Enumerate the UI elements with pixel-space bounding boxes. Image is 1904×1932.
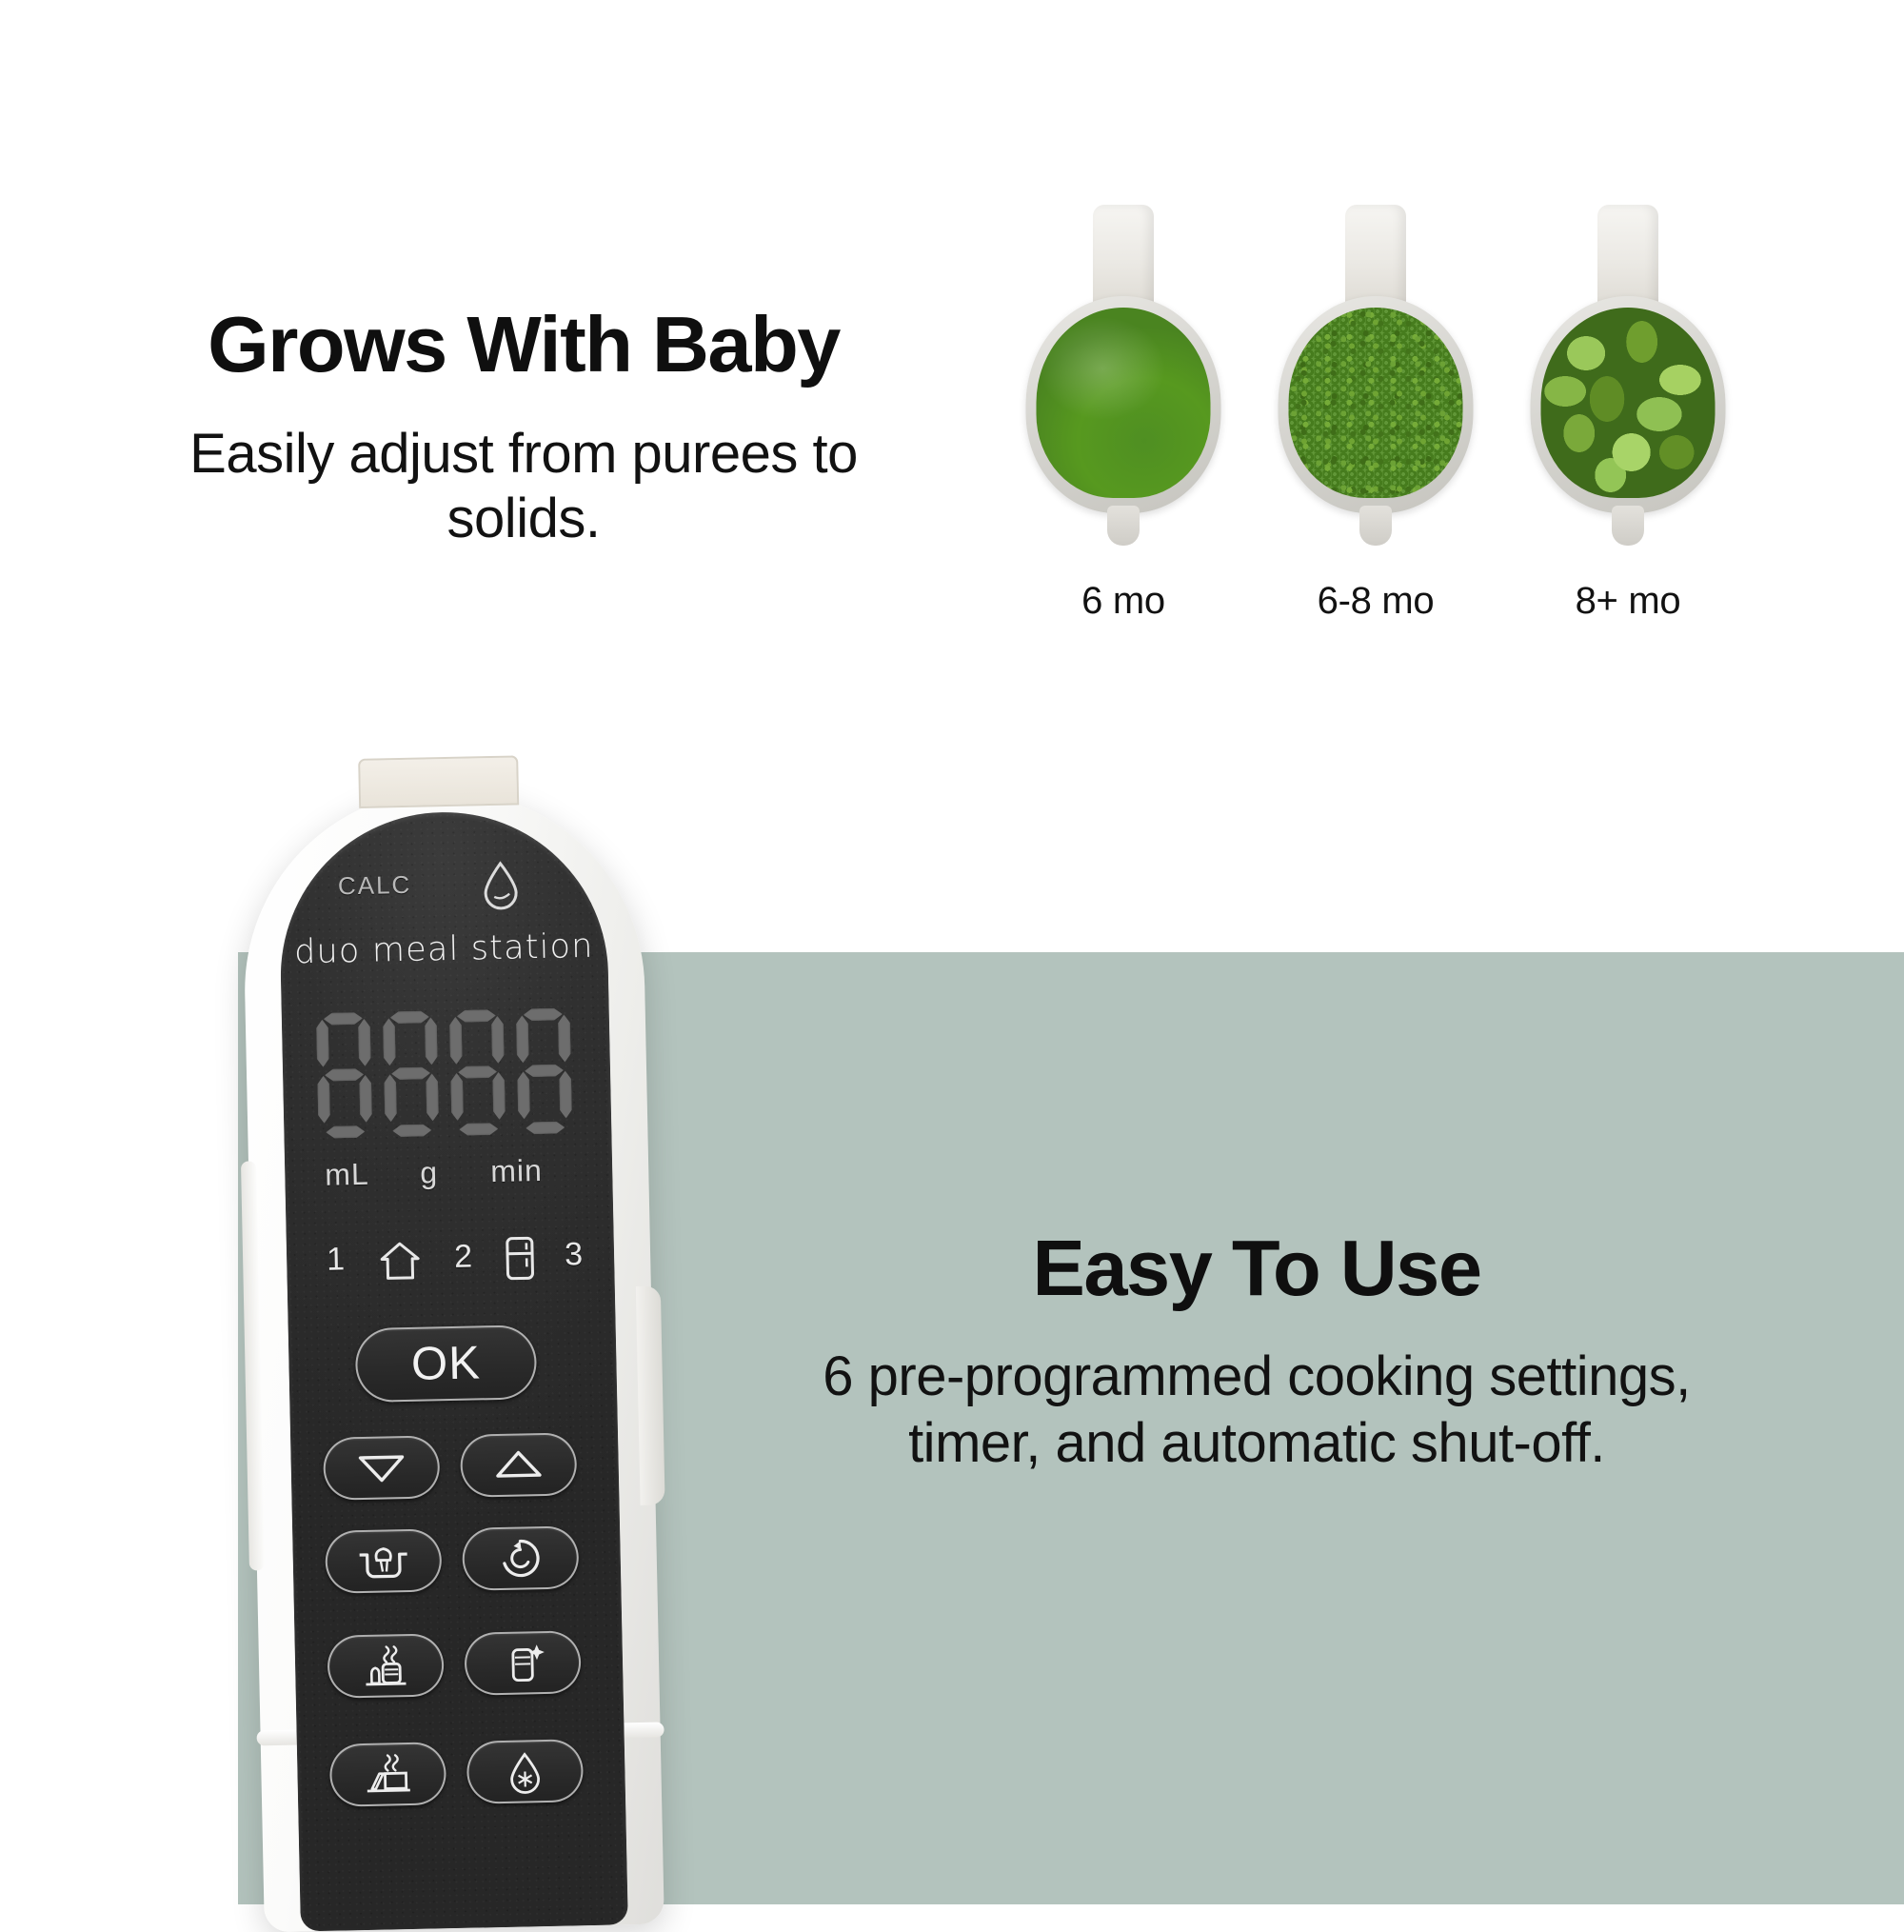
jar-illustration-chunky xyxy=(1523,205,1733,576)
unit-label-row: mL g min xyxy=(285,1151,613,1196)
sterilize-button[interactable] xyxy=(464,1630,581,1696)
lcd-digit-2 xyxy=(383,1010,440,1137)
ok-button[interactable]: OK xyxy=(355,1325,538,1403)
jar-item-8plus-mo: 8+ mo xyxy=(1523,205,1733,623)
easy-title: Easy To Use xyxy=(752,1228,1761,1307)
indicator-row-top: CALC xyxy=(279,863,607,913)
device-hinge-tab xyxy=(358,755,519,808)
bottle-steam-icon xyxy=(356,1643,416,1689)
device-side-rail xyxy=(636,1285,665,1504)
lcd-digit-1 xyxy=(316,1012,373,1139)
jar-bowl xyxy=(1279,296,1474,513)
brand-wordmark: duo meal station xyxy=(280,926,608,971)
fridge-icon xyxy=(504,1235,537,1282)
jar-spout-top xyxy=(1093,205,1154,309)
defrost-snowflake-droplet-icon xyxy=(501,1748,549,1795)
jar-bowl xyxy=(1531,296,1726,513)
arrow-down-icon xyxy=(356,1451,407,1484)
background-left-white xyxy=(0,952,238,1904)
jar-pour-spout xyxy=(1612,506,1644,546)
food-chunky-solids xyxy=(1541,308,1716,498)
jar-spout-top xyxy=(1597,205,1658,309)
steam-cook-button[interactable] xyxy=(325,1528,442,1594)
defrost-button[interactable] xyxy=(466,1739,584,1804)
grows-subtitle: Easily adjust from purees to solids. xyxy=(162,422,885,551)
jar-item-6-8mo: 6-8 mo xyxy=(1271,205,1480,623)
easy-to-use-section: Easy To Use 6 pre-programmed cooking set… xyxy=(752,1228,1761,1476)
unit-label-ml: mL xyxy=(325,1157,369,1193)
steam-basket-icon xyxy=(353,1539,413,1583)
jar-illustration-smooth xyxy=(1019,205,1228,576)
sterilize-sparkle-icon xyxy=(498,1640,548,1686)
arrow-up-icon xyxy=(493,1448,544,1482)
unit-label-g: g xyxy=(420,1155,439,1190)
jar-bowl xyxy=(1026,296,1221,513)
lcd-digit-4 xyxy=(516,1007,573,1134)
device-control-panel: CALC duo meal station xyxy=(277,809,627,1932)
jar-label-age: 8+ mo xyxy=(1523,580,1733,623)
reheat-button[interactable] xyxy=(329,1742,446,1807)
calc-label: CALC xyxy=(338,870,412,902)
grows-title: Grows With Baby xyxy=(162,305,885,384)
food-texture-comparison: 6 mo 6-8 mo 8+ mo xyxy=(1009,205,1771,662)
step-number-1: 1 xyxy=(327,1241,346,1278)
jar-label-age: 6 mo xyxy=(1019,580,1228,623)
increase-button[interactable] xyxy=(460,1432,577,1498)
jar-pour-spout xyxy=(1359,506,1392,546)
blend-swirl-icon xyxy=(496,1536,545,1581)
jar-pour-spout xyxy=(1107,506,1140,546)
easy-subtitle: 6 pre-programmed cooking settings, timer… xyxy=(752,1344,1761,1476)
step-number-3: 3 xyxy=(565,1236,584,1273)
grows-text-block: Grows With Baby Easily adjust from puree… xyxy=(162,305,885,551)
lcd-display xyxy=(316,1007,578,1139)
jar-label-age: 6-8 mo xyxy=(1271,580,1480,623)
food-fine-grain xyxy=(1289,308,1463,498)
jar-spout-top xyxy=(1345,205,1406,309)
lcd-digit-3 xyxy=(449,1009,506,1136)
unit-label-min: min xyxy=(490,1153,543,1189)
jar-illustration-fine xyxy=(1271,205,1480,576)
blend-button[interactable] xyxy=(462,1525,579,1591)
step-indicator-row: 1 2 3 xyxy=(287,1235,615,1287)
reheat-tray-icon xyxy=(358,1752,418,1797)
food-smooth-puree xyxy=(1037,308,1211,498)
duo-meal-station-device: CALC duo meal station xyxy=(240,753,664,1932)
step-number-2: 2 xyxy=(454,1239,473,1276)
jar-item-6mo: 6 mo xyxy=(1019,205,1228,623)
decrease-button[interactable] xyxy=(323,1435,440,1501)
bottle-warmer-button[interactable] xyxy=(327,1633,444,1699)
house-icon xyxy=(378,1240,423,1283)
water-droplet-icon xyxy=(480,860,521,910)
